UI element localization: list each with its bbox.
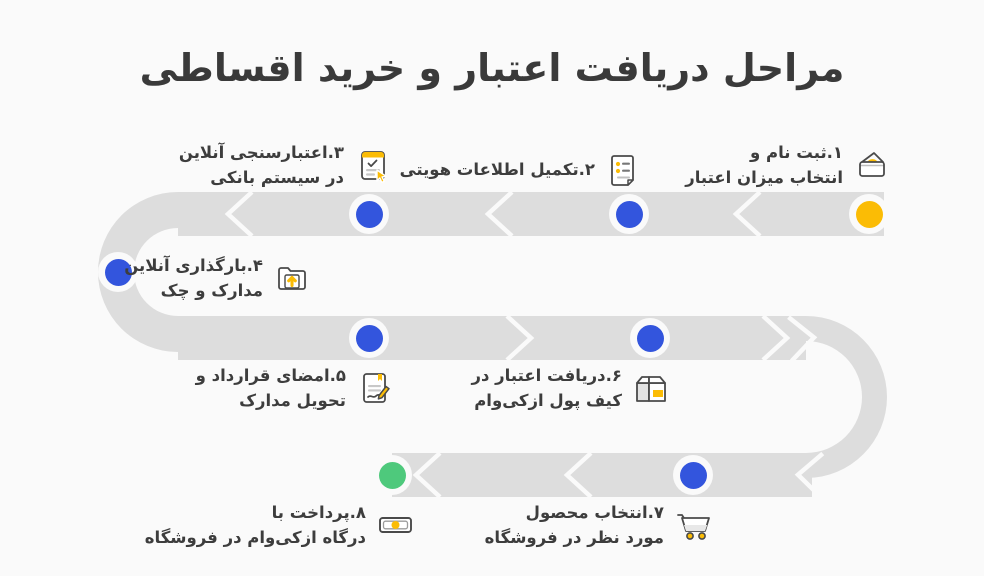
step-4-label: ۴.بارگذاری آنلاین مدارک و چک [124,253,263,303]
document-list-icon [604,150,644,190]
node-core-yellow [856,201,883,228]
step-2[interactable]: ۲.تکمیل اطلاعات هویتی [400,150,644,190]
track-row-3 [392,453,812,497]
node-core-blue [680,462,707,489]
step-3[interactable]: ۳.اعتبارسنجی آنلاین در سیستم بانکی [179,140,393,190]
contract-sign-icon [355,368,395,408]
node-core-green [379,462,406,489]
step-4[interactable]: ۴.بارگذاری آنلاین مدارک و چک [124,253,312,303]
node-step-2[interactable] [609,194,649,234]
step-1-label: ۱.ثبت نام و انتخاب میزان اعتبار [685,140,843,190]
step-6[interactable]: ۶.دریافت اعتبار در کیف پول ازکی‌وام [471,363,671,413]
node-core-blue [637,325,664,352]
wallet-icon [852,145,892,185]
page-title: مراحل دریافت اعتبار و خرید اقساطی [0,46,984,90]
track-curve-right [806,316,887,478]
node-core-blue [356,201,383,228]
step-6-label: ۶.دریافت اعتبار در کیف پول ازکی‌وام [471,363,622,413]
chevron-curve-right [789,315,823,497]
payment-terminal-icon [375,505,415,545]
step-8[interactable]: ۸.پرداخت با درگاه ازکی‌وام در فروشگاه [145,500,415,550]
chevrons-row-1 [228,192,760,236]
node-step-7[interactable] [673,455,713,495]
node-step-5[interactable] [349,318,389,358]
track-row-1 [178,192,884,236]
node-core-blue [356,325,383,352]
folder-upload-icon [272,258,312,298]
node-step-1[interactable] [849,194,889,234]
step-2-label: ۲.تکمیل اطلاعات هویتی [400,157,595,182]
step-3-label: ۳.اعتبارسنجی آنلاین در سیستم بانکی [179,140,344,190]
step-5-label: ۵.امضای قرارداد و تحویل مدارک [196,363,346,413]
open-box-icon [631,368,671,408]
node-step-8[interactable] [372,455,412,495]
track-row-2 [178,316,806,360]
step-7-label: ۷.انتخاب محصول مورد نظر در فروشگاه [485,500,664,550]
node-step-6[interactable] [630,318,670,358]
shopping-cart-icon [673,505,713,545]
infographic-canvas: مراحل دریافت اعتبار و خرید اقساطی [0,0,984,576]
step-7[interactable]: ۷.انتخاب محصول مورد نظر در فروشگاه [485,500,713,550]
step-1[interactable]: ۱.ثبت نام و انتخاب میزان اعتبار [685,140,892,190]
node-core-blue [616,201,643,228]
step-5[interactable]: ۵.امضای قرارداد و تحویل مدارک [196,363,395,413]
step-8-label: ۸.پرداخت با درگاه ازکی‌وام در فروشگاه [145,500,366,550]
node-step-3[interactable] [349,194,389,234]
checklist-cursor-icon [353,145,393,185]
chevrons-row-3 [416,453,591,497]
